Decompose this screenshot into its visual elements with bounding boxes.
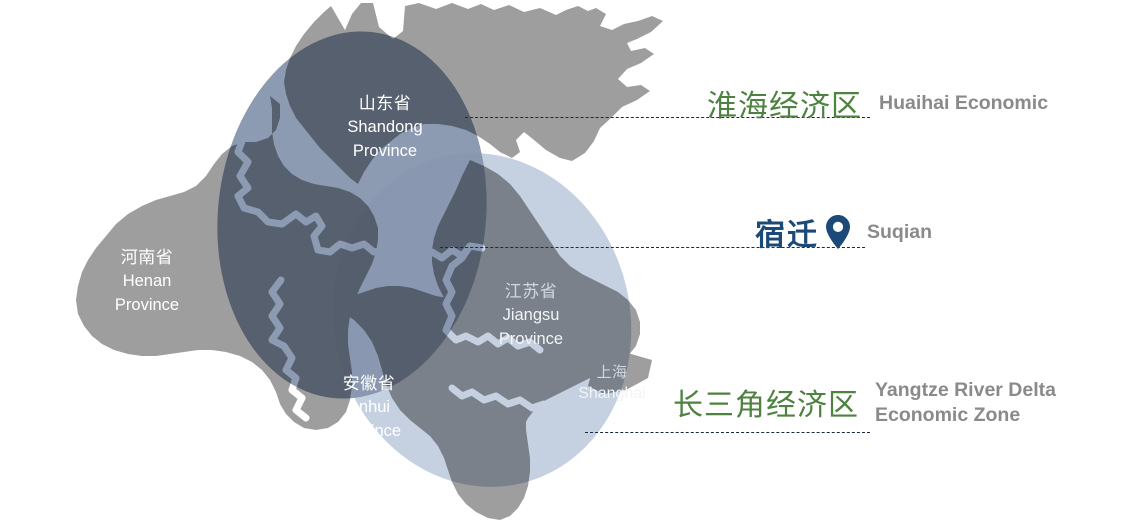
callout-suqian[interactable]: 宿迁 Suqian bbox=[755, 210, 932, 254]
callout-yangtze-cn: 长三角经济区 bbox=[673, 380, 859, 428]
map-pin-icon bbox=[823, 213, 853, 251]
callout-yangtze-en2: Economic Zone bbox=[875, 403, 1056, 428]
callout-huaihai-en: Huaihai Economic bbox=[879, 91, 1048, 116]
callout-suqian-cn: 宿迁 bbox=[755, 210, 819, 254]
callout-yangtze-en-block: Yangtze River Delta Economic Zone bbox=[859, 378, 1056, 428]
map-graphic bbox=[0, 0, 1140, 526]
callout-yangtze-en1: Yangtze River Delta bbox=[875, 378, 1056, 403]
callout-suqian-en: Suqian bbox=[867, 220, 932, 245]
callout-huaihai-economic[interactable]: 淮海经济区 Huaihai Economic bbox=[707, 81, 1048, 125]
callout-huaihai-cn: 淮海经济区 bbox=[707, 81, 862, 125]
callout-yangtze-river-delta[interactable]: 长三角经济区 Yangtze River Delta Economic Zone bbox=[673, 378, 1056, 428]
map-infographic: 山东省 Shandong Province 河南省 Henan Province… bbox=[0, 0, 1140, 526]
leader-line-yangtze bbox=[585, 432, 870, 433]
